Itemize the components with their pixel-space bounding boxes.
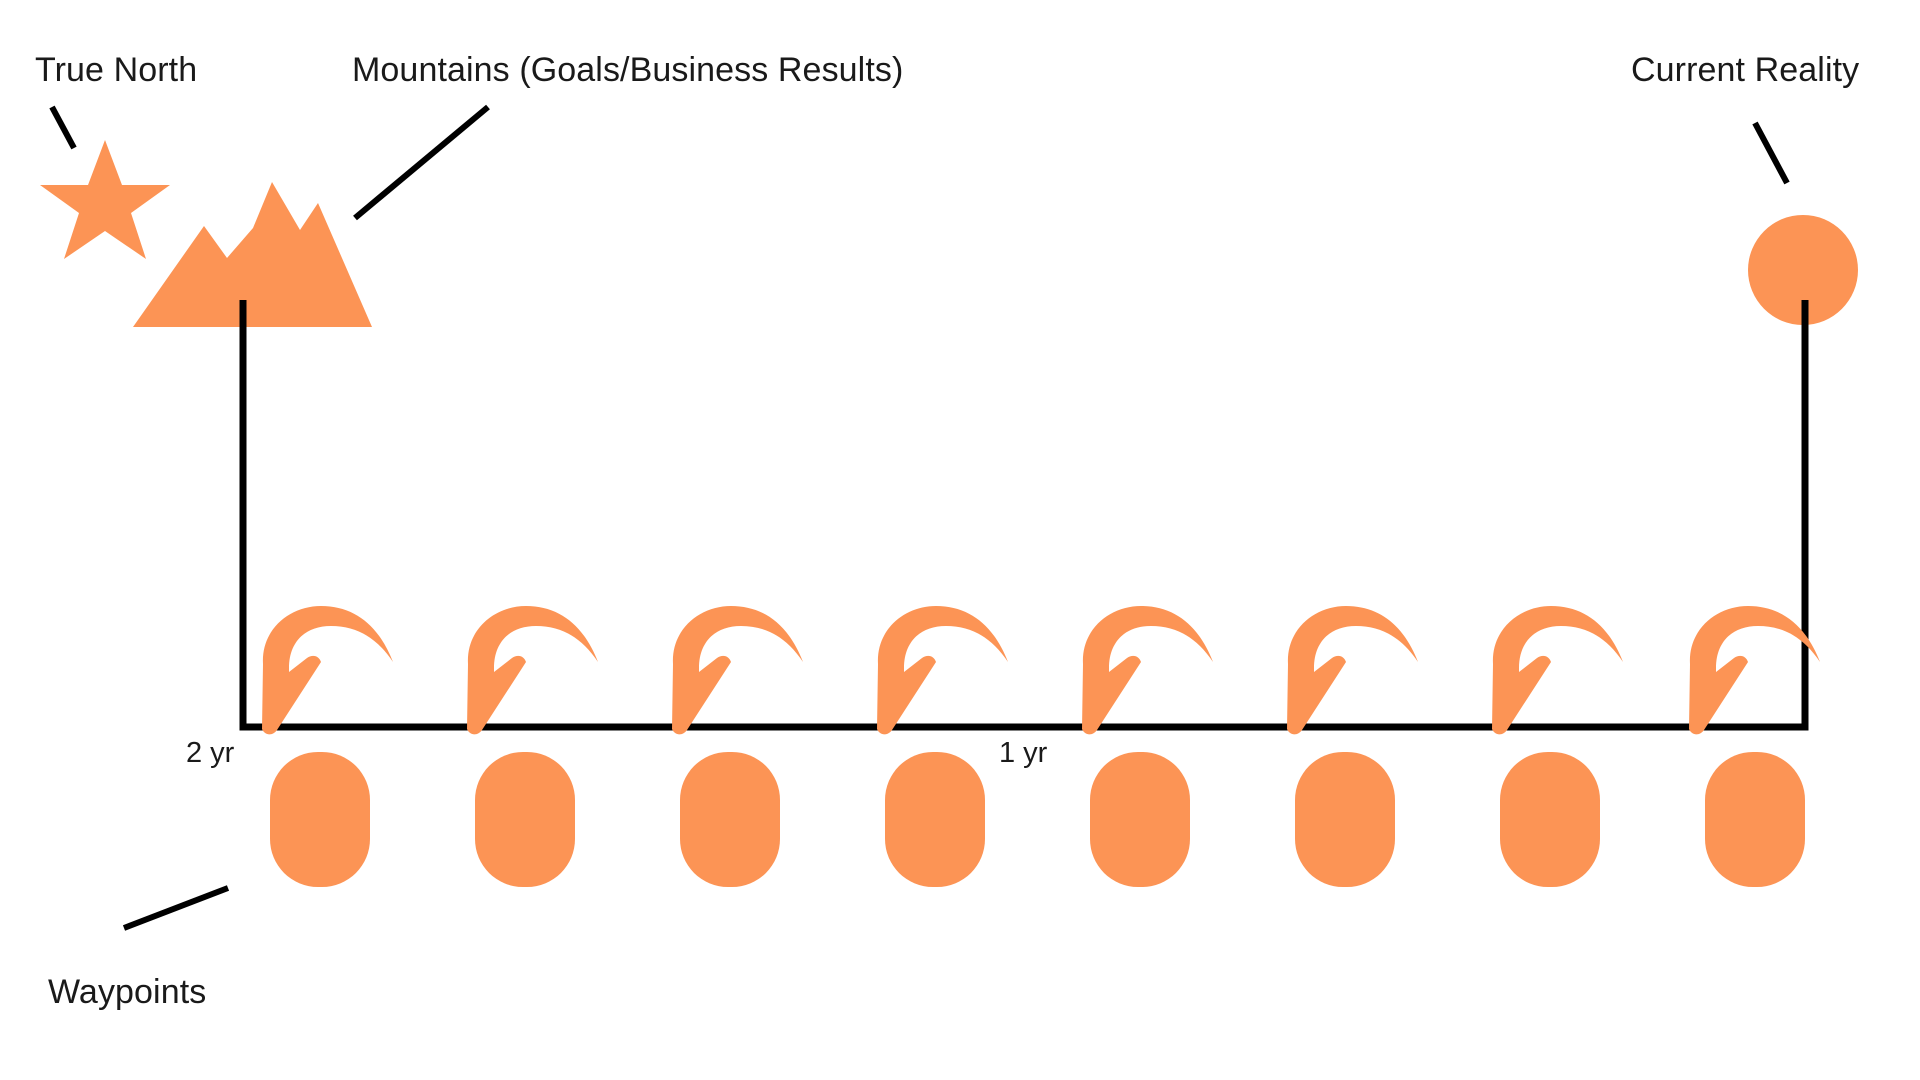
- leader-waypoints-line: [124, 888, 228, 928]
- iteration-arrow: [1082, 606, 1213, 734]
- waypoint-group: [270, 752, 1805, 887]
- waypoint-pill: [885, 752, 985, 887]
- label-waypoints: Waypoints: [48, 975, 206, 1009]
- leader-mountains-line: [355, 107, 488, 218]
- waypoint-pill: [1090, 752, 1190, 887]
- iteration-arrow: [877, 606, 1008, 734]
- iteration-arrow: [1287, 606, 1418, 734]
- iteration-arrow: [672, 606, 803, 734]
- mountains-shape: [133, 182, 372, 327]
- label-two-year: 2 yr: [186, 739, 234, 768]
- iteration-arrow-group: [262, 606, 1820, 734]
- waypoint-pill: [475, 752, 575, 887]
- waypoint-pill: [270, 752, 370, 887]
- true-north-star: [40, 140, 170, 259]
- label-current-reality: Current Reality: [1631, 53, 1859, 87]
- leader-true-north-line: [52, 107, 74, 148]
- label-one-year: 1 yr: [999, 739, 1047, 768]
- waypoint-pill: [1500, 752, 1600, 887]
- iteration-arrow: [467, 606, 598, 734]
- label-true-north: True North: [35, 53, 197, 87]
- iteration-arrow: [1492, 606, 1623, 734]
- waypoint-pill: [1295, 752, 1395, 887]
- diagram-vector-layer: [0, 0, 1920, 1080]
- iteration-arrow: [262, 606, 393, 734]
- iteration-arrow: [1689, 606, 1820, 734]
- label-mountains: Mountains (Goals/Business Results): [352, 53, 903, 87]
- leader-current-reality-line: [1755, 123, 1787, 183]
- waypoint-pill: [680, 752, 780, 887]
- waypoint-pill: [1705, 752, 1805, 887]
- diagram-canvas: True North Mountains (Goals/Business Res…: [0, 0, 1920, 1080]
